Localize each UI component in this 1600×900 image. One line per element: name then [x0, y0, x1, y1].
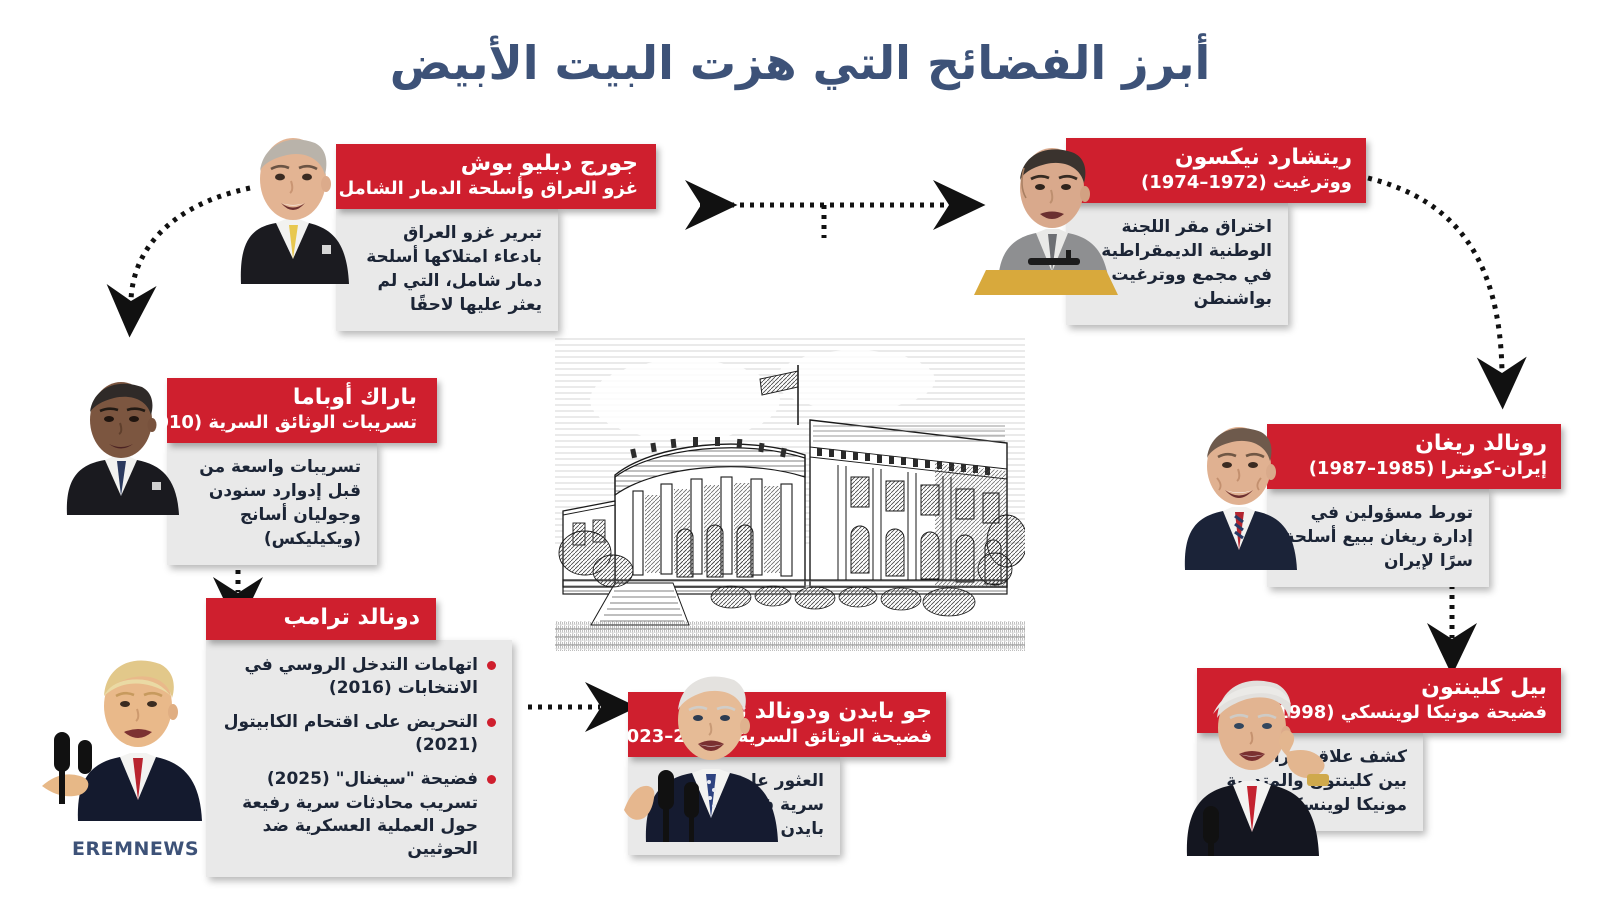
list-item: اتهامات التدخل الروسي في الانتخابات (201…	[222, 654, 496, 700]
card-reagan-subtitle: إيران-كونترا (1985–1987)	[1281, 458, 1547, 480]
card-trump-name: دونالد ترامب	[222, 605, 420, 631]
connector-nixon-bush	[700, 205, 948, 238]
bullet-dot-icon	[487, 775, 496, 784]
brand-logo: EREMNEWS	[72, 838, 199, 860]
card-bush-body-text: تبرير غزو العراق بادعاء امتلاكها أسلحة د…	[366, 223, 542, 315]
card-trump: دونالد ترامب اتهامات التدخل الروسي في ال…	[206, 598, 512, 877]
card-trump-header: دونالد ترامب	[206, 598, 436, 640]
page-title: أبرز الفضائح التي هزت البيت الأبيض	[0, 36, 1600, 90]
trump-bullet-list: اتهامات التدخل الروسي في الانتخابات (201…	[222, 654, 496, 861]
richard-nixon-photo	[956, 130, 1131, 295]
bullet-dot-icon	[487, 661, 496, 670]
card-clinton: بيل كلينتون فضيحة مونيكا لوينسكي (1998) …	[1197, 668, 1561, 831]
ronald-reagan-photo	[1137, 410, 1317, 570]
joe-biden-photo	[598, 652, 808, 842]
bullet-detail: تسريب محادثات سرية رفيعة حول العملية الع…	[222, 792, 478, 861]
list-item: فضيحة "سيغنال" (2025) تسريب محادثات سرية…	[222, 768, 496, 860]
bill-clinton-photo	[1147, 656, 1362, 856]
bullet-text: اتهامات التدخل الروسي في الانتخابات (201…	[244, 655, 478, 698]
bullet-dot-icon	[487, 718, 496, 727]
bullet-text: التحريض على اقتحام الكابيتول (2021)	[224, 712, 478, 755]
card-bush-name: جورج دبليو بوش	[350, 151, 638, 177]
card-biden: جو بايدن ودونالد ترامب فضيحة الوثائق الس…	[628, 692, 946, 855]
card-obama-body-text: تسريبات واسعة من قبل إدوارد سنودن وجوليا…	[199, 457, 361, 549]
card-bush: جورج دبليو بوش غزو العراق وأسلحة الدمار …	[336, 144, 656, 331]
card-obama: باراك أوباما تسريبات الوثائق السرية (201…	[167, 378, 437, 565]
card-bush-header: جورج دبليو بوش غزو العراق وأسلحة الدمار …	[336, 144, 656, 209]
card-obama-name: باراك أوباما	[181, 385, 417, 411]
bullet-text: فضيحة "سيغنال" (2025)	[267, 769, 478, 789]
infographic-canvas: أبرز الفضائح التي هزت البيت الأبيض	[0, 0, 1600, 900]
card-nixon: ريتشارد نيكسون ووترغيت (1972–1974) اخترا…	[1066, 138, 1366, 325]
george-w-bush-photo	[181, 119, 371, 284]
card-reagan-name: رونالد ريغان	[1281, 431, 1547, 457]
card-trump-body: اتهامات التدخل الروسي في الانتخابات (201…	[206, 640, 512, 877]
card-obama-header: باراك أوباما تسريبات الوثائق السرية (201…	[167, 378, 437, 443]
card-obama-body: تسريبات واسعة من قبل إدوارد سنودن وجوليا…	[167, 443, 377, 566]
list-item: التحريض على اقتحام الكابيتول (2021)	[222, 711, 496, 757]
donald-trump-photo	[26, 636, 231, 821]
white-house-illustration	[555, 325, 1025, 655]
card-bush-subtitle: غزو العراق وأسلحة الدمار الشامل (2003)	[350, 178, 638, 200]
card-reagan: رونالد ريغان إيران-كونترا (1985–1987) تو…	[1267, 424, 1561, 587]
barack-obama-photo	[17, 370, 197, 515]
connector-nixon-reagan	[1368, 178, 1502, 372]
card-obama-subtitle: تسريبات الوثائق السرية (2010–2013)	[181, 412, 417, 434]
